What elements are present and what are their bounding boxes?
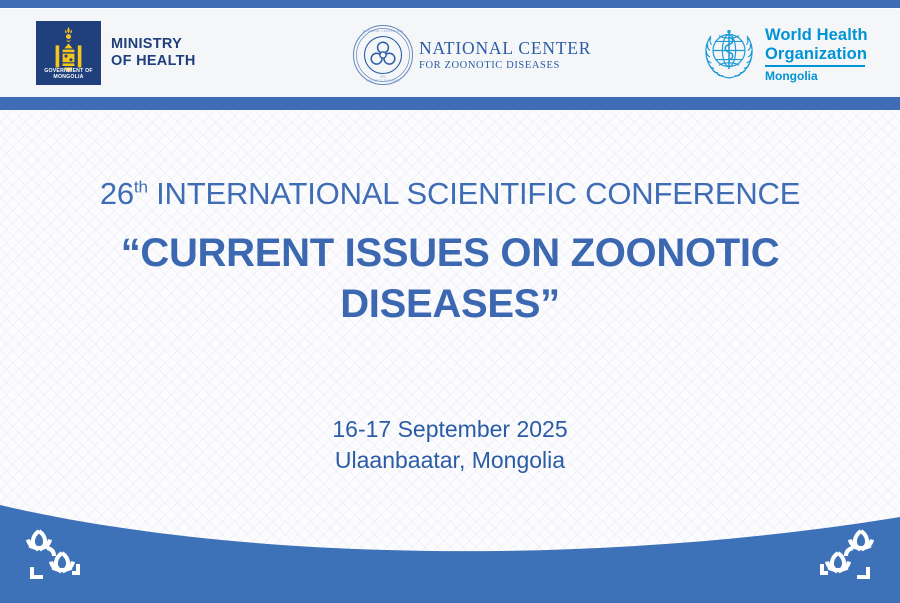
ministry-of-health-name: MINISTRY OF HEALTH [111,36,196,71]
conference-number: 26 [100,176,134,211]
mongolian-knot-ornament-left [14,521,90,587]
conference-number-line: 26th INTERNATIONAL SCIENTIFIC CONFERENCE [0,176,900,212]
nczd-seal-year: 1951 [380,74,387,78]
wave-blue [0,505,900,603]
nczd-name: NATIONAL CENTER FOR ZOONOTIC DISEASES [419,39,591,72]
moh-emblem-line2: MONGOLIA [53,74,83,80]
header-divider-strip [0,97,900,110]
moh-emblem-line1: GOVERNMENT OF [44,68,92,74]
who-name-line1: World Health [765,26,868,45]
logo-row: GOVERNMENT OF MONGOLIA MINISTRY OF HEALT… [0,8,900,97]
moh-name-line2: OF HEALTH [111,53,196,69]
conference-title-slide: GOVERNMENT OF MONGOLIA MINISTRY OF HEALT… [0,0,900,603]
ministry-of-health-logo: GOVERNMENT OF MONGOLIA MINISTRY OF HEALT… [36,21,196,85]
bottom-wave-decoration [0,473,900,603]
who-underline-rule [765,65,865,67]
who-country-label: Mongolia [765,69,868,83]
mongolia-soyombo-emblem: GOVERNMENT OF MONGOLIA [36,21,101,85]
conference-date-location: 16-17 September 2025 Ulaanbaatar, Mongol… [0,414,900,476]
moh-name-line1: MINISTRY [111,36,182,52]
svg-text:NATIONAL CENTER FOR: NATIONAL CENTER FOR [363,29,404,33]
who-logo: World Health Organization Mongolia [700,25,868,83]
conference-date: 16-17 September 2025 [0,414,900,445]
nczd-name-line1: NATIONAL CENTER [419,39,591,58]
conference-theme-title: “CURRENT ISSUES ON ZOONOTIC DISEASES” [90,228,810,330]
national-center-zoonotic-diseases-logo: NATIONAL CENTER FOR ZOONOTIC DISEASES 19… [352,24,591,86]
conference-label: INTERNATIONAL SCIENTIFIC CONFERENCE [156,176,800,211]
svg-text:ZOONOTIC DISEASES: ZOONOTIC DISEASES [366,78,400,82]
moh-emblem-caption: GOVERNMENT OF MONGOLIA [36,68,101,81]
nczd-seal-icon: NATIONAL CENTER FOR ZOONOTIC DISEASES 19… [352,24,414,86]
who-emblem-icon [700,25,758,83]
conference-location: Ulaanbaatar, Mongolia [0,445,900,476]
conference-ordinal: th [134,178,148,197]
mongolian-knot-ornament-right [810,521,886,587]
top-accent-strip [0,0,900,8]
nczd-name-line2: FOR ZOONOTIC DISEASES [419,59,591,72]
who-name-line2: Organization [765,45,868,64]
who-name: World Health Organization Mongolia [765,25,868,83]
